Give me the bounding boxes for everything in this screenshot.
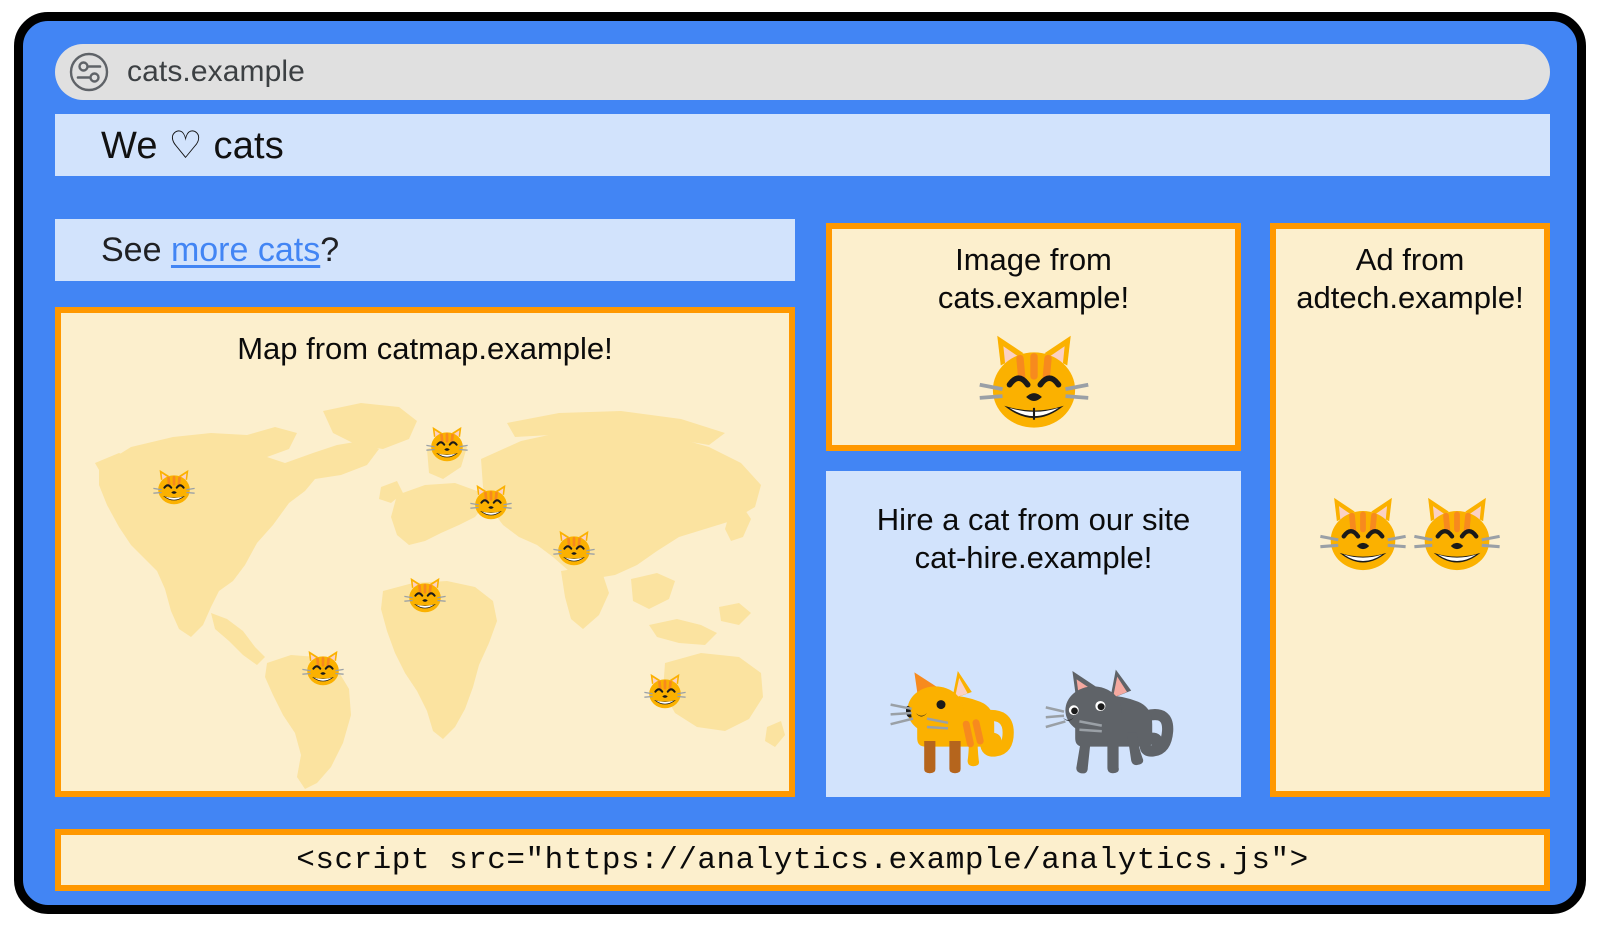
more-cats-link-banner: See more cats? <box>55 219 795 281</box>
screenshot-root: cats.example We ♡ cats See more cats? Ma… <box>0 0 1600 926</box>
grey-cat-icon <box>1043 643 1183 783</box>
tune-sliders-icon[interactable] <box>68 51 110 93</box>
more-cats-link[interactable]: more cats <box>171 231 320 269</box>
map-pin-oceania[interactable] <box>643 669 687 713</box>
page-title: We ♡ cats <box>101 123 284 168</box>
grinning-cat-face-icon <box>978 327 1090 439</box>
ad-embed-panel[interactable]: Ad from adtech.example! <box>1270 223 1550 797</box>
hire-cat-illustrations <box>826 643 1241 783</box>
map-pin-south-asia[interactable] <box>552 526 596 570</box>
map-panel-title: Map from catmap.example! <box>61 330 789 368</box>
map-pin-south-america[interactable] <box>301 646 345 690</box>
grinning-cat-face-icon <box>425 422 469 466</box>
link-sentence: See more cats? <box>101 231 339 270</box>
grinning-cat-face-icon <box>301 646 345 690</box>
image-embed-panel[interactable]: Image from cats.example! <box>826 223 1241 451</box>
script-tag-text: <script src="https://analytics.example/a… <box>296 843 1308 878</box>
browser-window: cats.example We ♡ cats See more cats? Ma… <box>14 12 1586 914</box>
grinning-cat-face-icon <box>152 465 196 509</box>
map-pin-north-america[interactable] <box>152 465 196 509</box>
map-embed-panel[interactable]: Map from catmap.example! <box>55 307 795 797</box>
grinning-cat-face-icon <box>403 573 447 617</box>
grinning-cat-face-icon <box>643 669 687 713</box>
url-text[interactable]: cats.example <box>127 55 305 89</box>
hire-a-cat-panel[interactable]: Hire a cat from our site cat-hire.exampl… <box>826 471 1241 797</box>
link-prefix-text: See <box>101 231 171 269</box>
orange-cat-icon <box>885 643 1025 783</box>
grinning-cat-face-icon <box>1319 491 1407 579</box>
grinning-cat-face-icon <box>1413 491 1501 579</box>
analytics-script-panel: <script src="https://analytics.example/a… <box>55 829 1550 891</box>
map-pin-southern-europe[interactable] <box>469 480 513 524</box>
hire-panel-title: Hire a cat from our site cat-hire.exampl… <box>826 501 1241 577</box>
page-heading-banner: We ♡ cats <box>55 114 1550 176</box>
ad-cat-illustrations <box>1276 491 1544 579</box>
grinning-cat-face-icon <box>469 480 513 524</box>
ad-panel-title: Ad from adtech.example! <box>1276 241 1544 317</box>
map-pin-northern-europe[interactable] <box>425 422 469 466</box>
world-map[interactable] <box>61 375 789 791</box>
grinning-cat-face-icon <box>552 526 596 570</box>
map-pin-africa[interactable] <box>403 573 447 617</box>
url-bar[interactable]: cats.example <box>55 44 1550 100</box>
image-panel-title: Image from cats.example! <box>832 241 1235 317</box>
link-suffix-text: ? <box>320 231 339 269</box>
